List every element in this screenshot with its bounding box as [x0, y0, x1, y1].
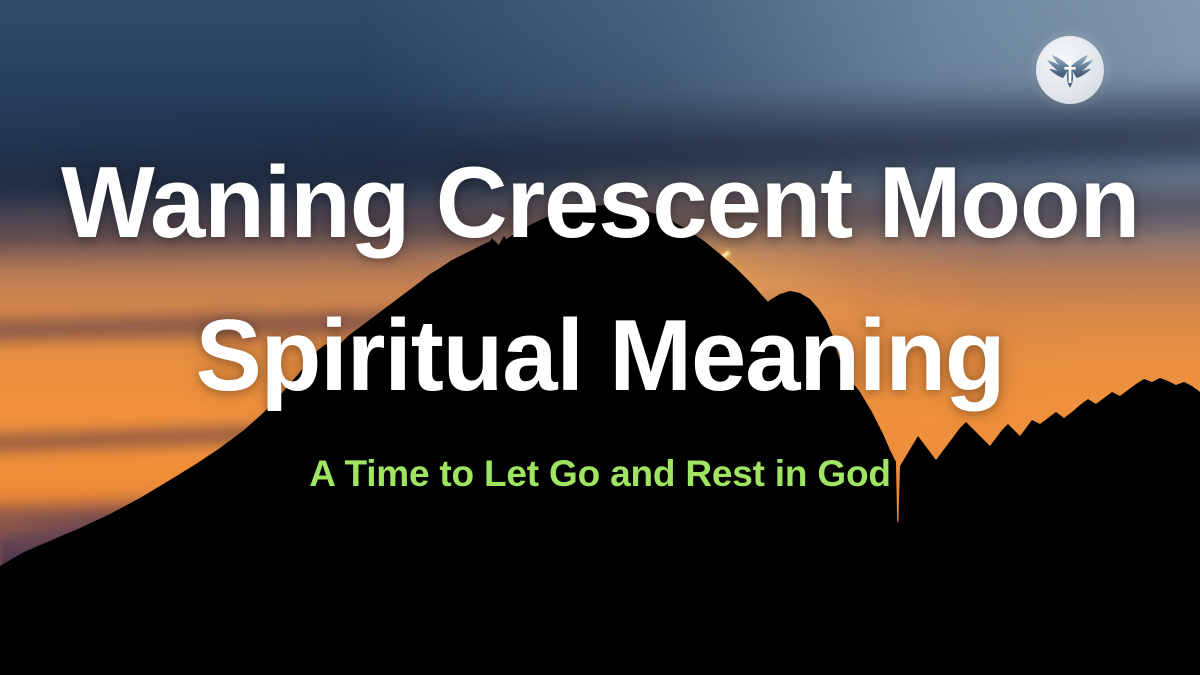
page-title-line-2: Spiritual Meaning — [9, 306, 1191, 407]
thumbnail-banner: 0% — [0, 0, 1200, 675]
page-subtitle: A Time to Let Go and Rest in God — [0, 455, 1200, 492]
text-overlay: Waning Crescent Moon Spiritual Meaning A… — [0, 0, 1200, 675]
page-title-line-1: Waning Crescent Moon — [9, 153, 1191, 254]
